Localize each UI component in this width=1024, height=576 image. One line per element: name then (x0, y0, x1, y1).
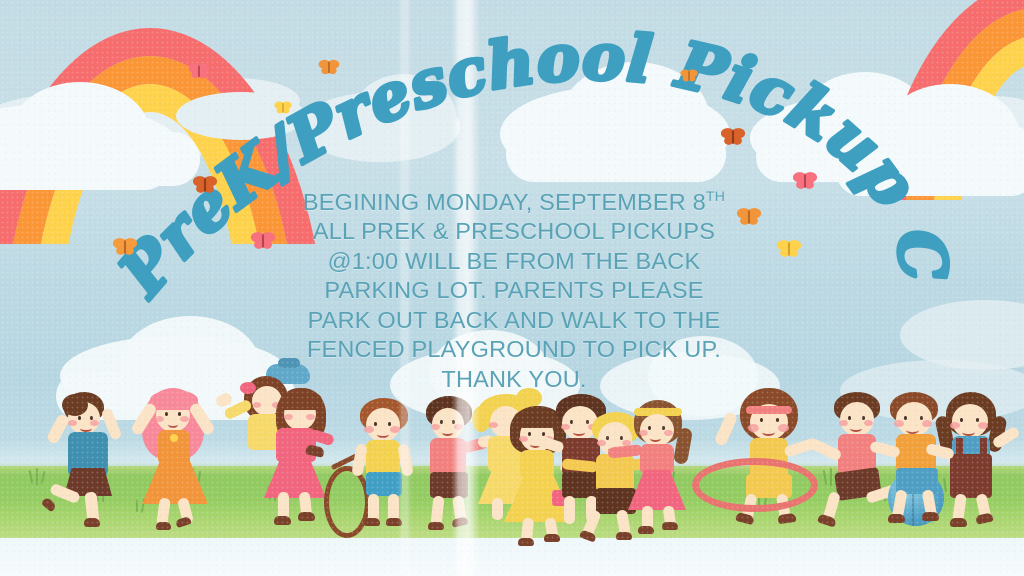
butterfly-icon (188, 62, 210, 80)
message-line: FENCED PLAYGROUND TO PICK UP. (276, 335, 752, 365)
message-line: ALL PREK & PRESCHOOL PICKUPS (276, 217, 752, 247)
butterfly-icon (776, 238, 802, 259)
message-line: PARKING LOT. PARENTS PLEASE (276, 276, 752, 306)
butterfly-icon (720, 126, 746, 147)
butterfly-icon (318, 58, 340, 76)
butterfly-icon (192, 174, 218, 195)
announcement-message: BEGINING MONDAY, SEPTEMBER 8TH ALL PREK … (276, 182, 752, 394)
message-line: BEGINING MONDAY, SEPTEMBER 8TH (276, 182, 752, 217)
butterfly-icon (680, 68, 698, 83)
butterfly-icon (112, 236, 138, 257)
message-line: THANK YOU. (276, 365, 752, 395)
message-line: @1:00 WILL BE FROM THE BACK (276, 247, 752, 277)
butterfly-icon (250, 230, 276, 251)
butterfly-icon (792, 170, 818, 191)
poster-canvas: PreK/Preschool Pickup Change BEGINING MO… (0, 0, 1024, 576)
message-line: PARK OUT BACK AND WALK TO THE (276, 306, 752, 336)
ordinal-suffix: TH (706, 188, 725, 204)
butterfly-icon (274, 100, 292, 115)
